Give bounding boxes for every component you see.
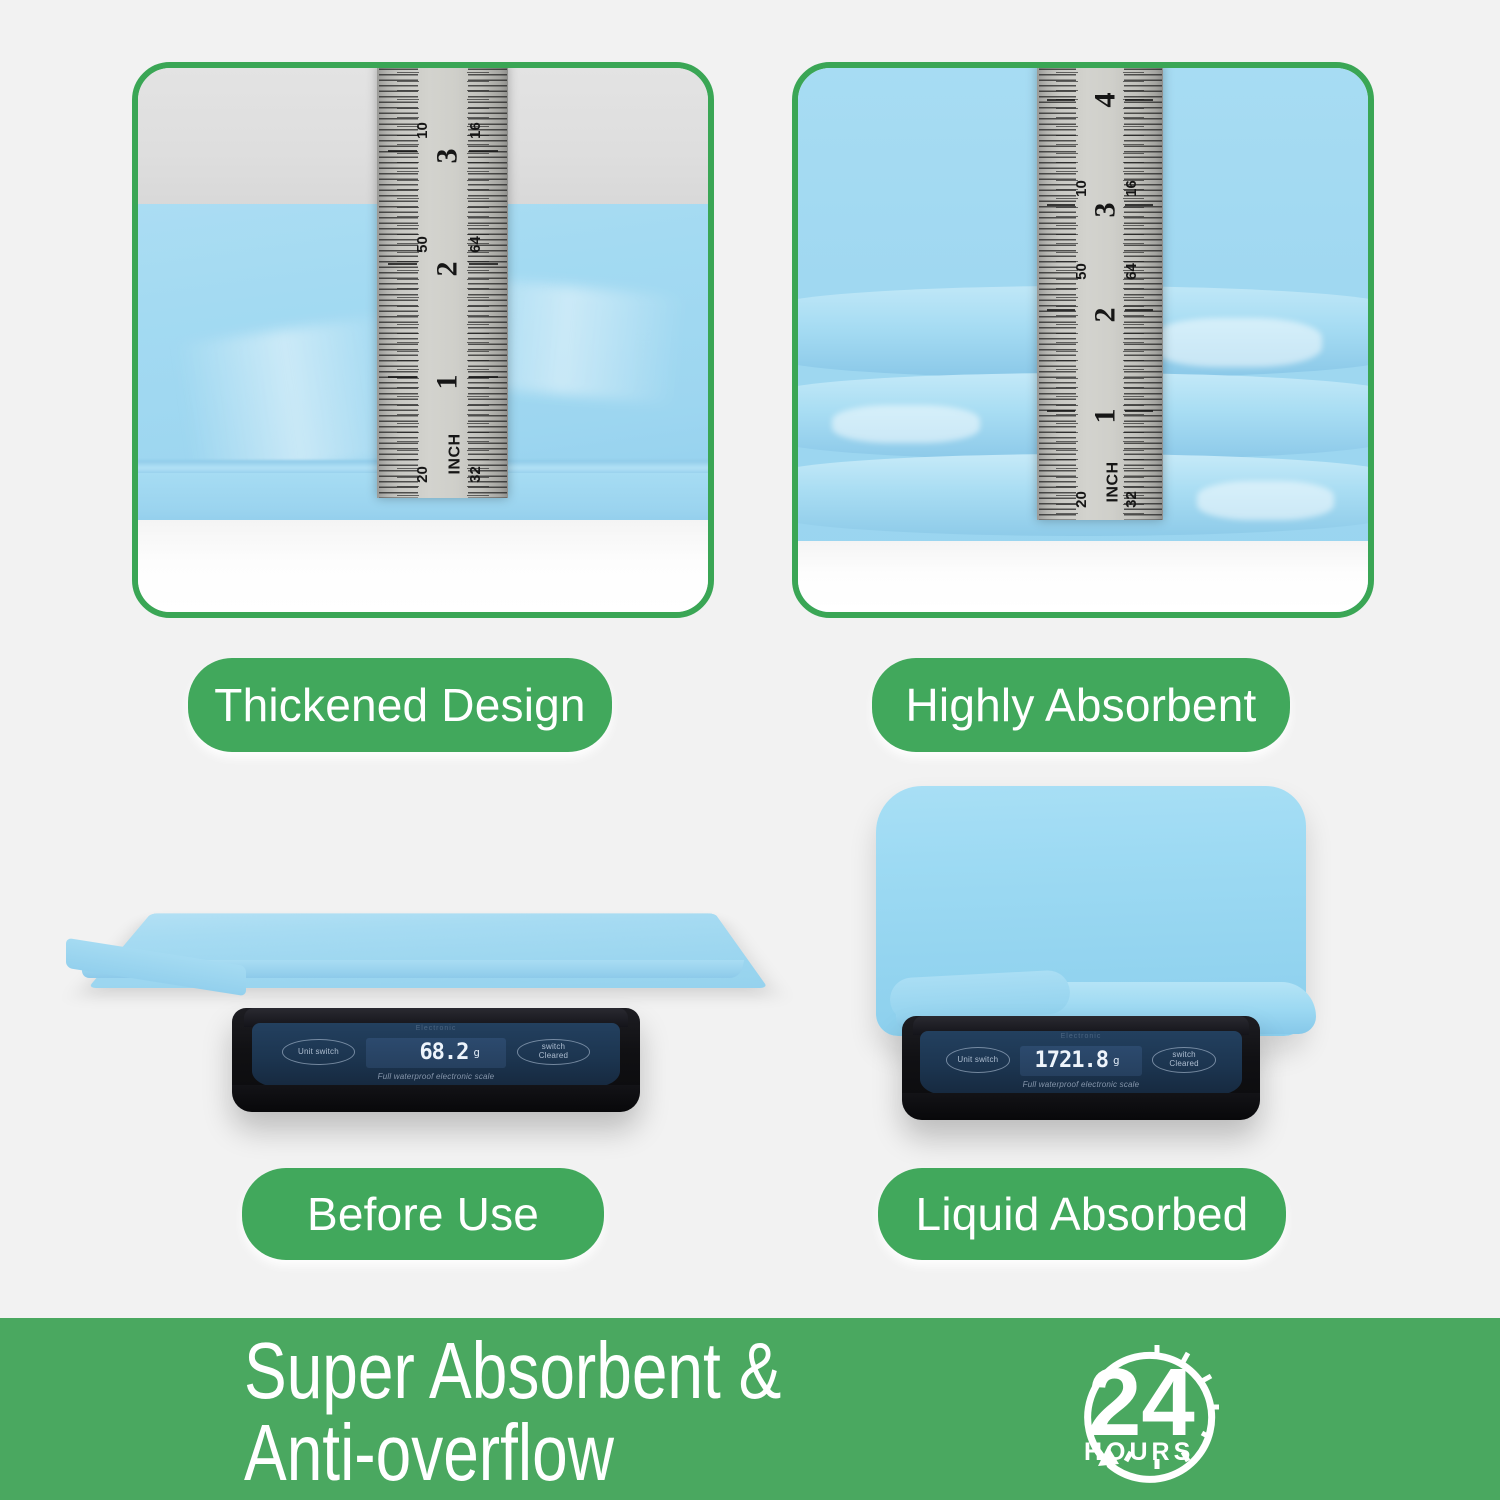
scale-control-panel: Electronic Unit switch 1721.8 g switch C… bbox=[920, 1031, 1242, 1095]
ruler-tick bbox=[1125, 99, 1153, 101]
unit-switch-label: Unit switch bbox=[957, 1056, 998, 1065]
tare-label-line2: Cleared bbox=[1169, 1060, 1198, 1069]
banner-headline: Super Absorbent & Anti-overflow bbox=[244, 1330, 781, 1495]
ruler-tick bbox=[469, 376, 498, 378]
ruler-mark-20: 20 bbox=[1073, 491, 1088, 508]
clock-icon-svg: 24 HOURS bbox=[1062, 1322, 1252, 1494]
ruler-coarse-ticks-right bbox=[1123, 68, 1144, 520]
ruler-mark-16: 16 bbox=[467, 123, 482, 140]
scale-brand-text: Electronic bbox=[252, 1025, 619, 1032]
scale-base bbox=[232, 1085, 640, 1112]
ruler-inch-4: 4 bbox=[1090, 93, 1120, 108]
tare-clear-button[interactable]: switch Cleared bbox=[1152, 1047, 1216, 1073]
ruler-mark-10: 10 bbox=[415, 123, 430, 140]
highly-absorbent-photo: 4 3 2 1 INCH 10 50 20 16 64 32 bbox=[798, 68, 1368, 612]
tare-clear-button[interactable]: switch Cleared bbox=[517, 1039, 590, 1065]
unit-switch-button[interactable]: Unit switch bbox=[946, 1047, 1010, 1073]
ruler-tick bbox=[388, 376, 417, 378]
ruler-tick bbox=[469, 263, 498, 265]
table-surface-bottom bbox=[798, 541, 1368, 612]
underpad-fold-lip bbox=[889, 969, 1071, 1022]
table-surface-bottom bbox=[138, 520, 708, 612]
scale-control-panel: Electronic Unit switch 68.2 g switch Cle… bbox=[252, 1023, 619, 1087]
badge-before-use: Before Use bbox=[242, 1168, 604, 1260]
ruler-inch-2: 2 bbox=[433, 262, 463, 277]
scale-base bbox=[902, 1093, 1260, 1120]
infographic-root: 3 2 1 INCH 10 50 20 16 64 32 bbox=[0, 0, 1500, 1500]
steel-ruler-icon: 3 2 1 INCH 10 50 20 16 64 32 bbox=[377, 68, 508, 498]
clock-unit-hours: HOURS bbox=[1084, 1438, 1194, 1466]
ruler-tick bbox=[1047, 410, 1075, 412]
ruler-mark-64: 64 bbox=[467, 236, 482, 253]
ruler-inch-3: 3 bbox=[1090, 203, 1120, 218]
saturated-underpad bbox=[876, 786, 1306, 1036]
scale-caption: Full waterproof electronic scale bbox=[252, 1072, 619, 1081]
ruler-tick bbox=[1125, 410, 1153, 412]
scale-weight-value: 68.2 bbox=[419, 1040, 468, 1065]
ruler-tick bbox=[1047, 99, 1075, 101]
ruler-mark-64: 64 bbox=[1124, 263, 1139, 280]
ruler-tick bbox=[1125, 204, 1153, 206]
ruler-mark-10: 10 bbox=[1073, 181, 1088, 198]
ruler-unit-label: INCH bbox=[448, 433, 464, 474]
ruler-inch-1: 1 bbox=[1090, 408, 1120, 423]
fabric-wrinkle bbox=[1197, 481, 1334, 519]
scale-lcd-display: 1721.8 g bbox=[1020, 1046, 1142, 1076]
ruler-tick bbox=[469, 150, 498, 152]
unit-switch-button[interactable]: Unit switch bbox=[282, 1039, 355, 1065]
ruler-inch-1: 1 bbox=[433, 375, 463, 390]
twenty-four-hours-clock-icon: 24 HOURS bbox=[1062, 1322, 1252, 1494]
feature-card-thickened-design: 3 2 1 INCH 10 50 20 16 64 32 bbox=[132, 62, 714, 618]
ruler-mark-50: 50 bbox=[1073, 263, 1088, 280]
badge-liquid-absorbed: Liquid Absorbed bbox=[878, 1168, 1286, 1260]
scale-brand-text: Electronic bbox=[920, 1033, 1242, 1040]
ruler-mark-32: 32 bbox=[467, 466, 482, 483]
digital-scale-before: Electronic Unit switch 68.2 g switch Cle… bbox=[232, 1008, 640, 1112]
scale-weight-value: 1721.8 bbox=[1035, 1048, 1108, 1073]
ruler-mark-20: 20 bbox=[415, 466, 430, 483]
badge-highly-absorbent: Highly Absorbent bbox=[872, 658, 1290, 752]
unit-switch-label: Unit switch bbox=[298, 1048, 339, 1057]
badge-thickened-design: Thickened Design bbox=[188, 658, 612, 752]
ruler-tick bbox=[1125, 309, 1153, 311]
scale-weight-unit: g bbox=[1113, 1054, 1120, 1067]
ruler-inch-2: 2 bbox=[1090, 308, 1120, 323]
ruler-tick bbox=[1047, 204, 1075, 206]
digital-scale-after: Electronic Unit switch 1721.8 g switch C… bbox=[902, 1016, 1260, 1120]
ruler-coarse-ticks-left bbox=[1056, 68, 1077, 520]
ruler-mark-16: 16 bbox=[1124, 181, 1139, 198]
ruler-tick bbox=[388, 263, 417, 265]
steel-ruler-icon: 4 3 2 1 INCH 10 50 20 16 64 32 bbox=[1037, 68, 1162, 520]
scale-weight-unit: g bbox=[473, 1046, 480, 1059]
feature-card-highly-absorbent: 4 3 2 1 INCH 10 50 20 16 64 32 bbox=[792, 62, 1374, 618]
tare-label-line2: Cleared bbox=[539, 1052, 568, 1061]
ruler-mark-32: 32 bbox=[1124, 491, 1139, 508]
ruler-inch-3: 3 bbox=[433, 148, 463, 163]
scale-caption: Full waterproof electronic scale bbox=[920, 1080, 1242, 1089]
ruler-mark-50: 50 bbox=[415, 236, 430, 253]
scale-lcd-display: 68.2 g bbox=[366, 1038, 506, 1068]
fabric-wrinkle bbox=[1151, 318, 1322, 367]
ruler-tick bbox=[388, 150, 417, 152]
ruler-tick bbox=[1047, 309, 1075, 311]
thickened-design-photo: 3 2 1 INCH 10 50 20 16 64 32 bbox=[138, 68, 708, 612]
ruler-unit-label: INCH bbox=[1105, 461, 1121, 502]
fabric-wrinkle bbox=[832, 405, 980, 443]
